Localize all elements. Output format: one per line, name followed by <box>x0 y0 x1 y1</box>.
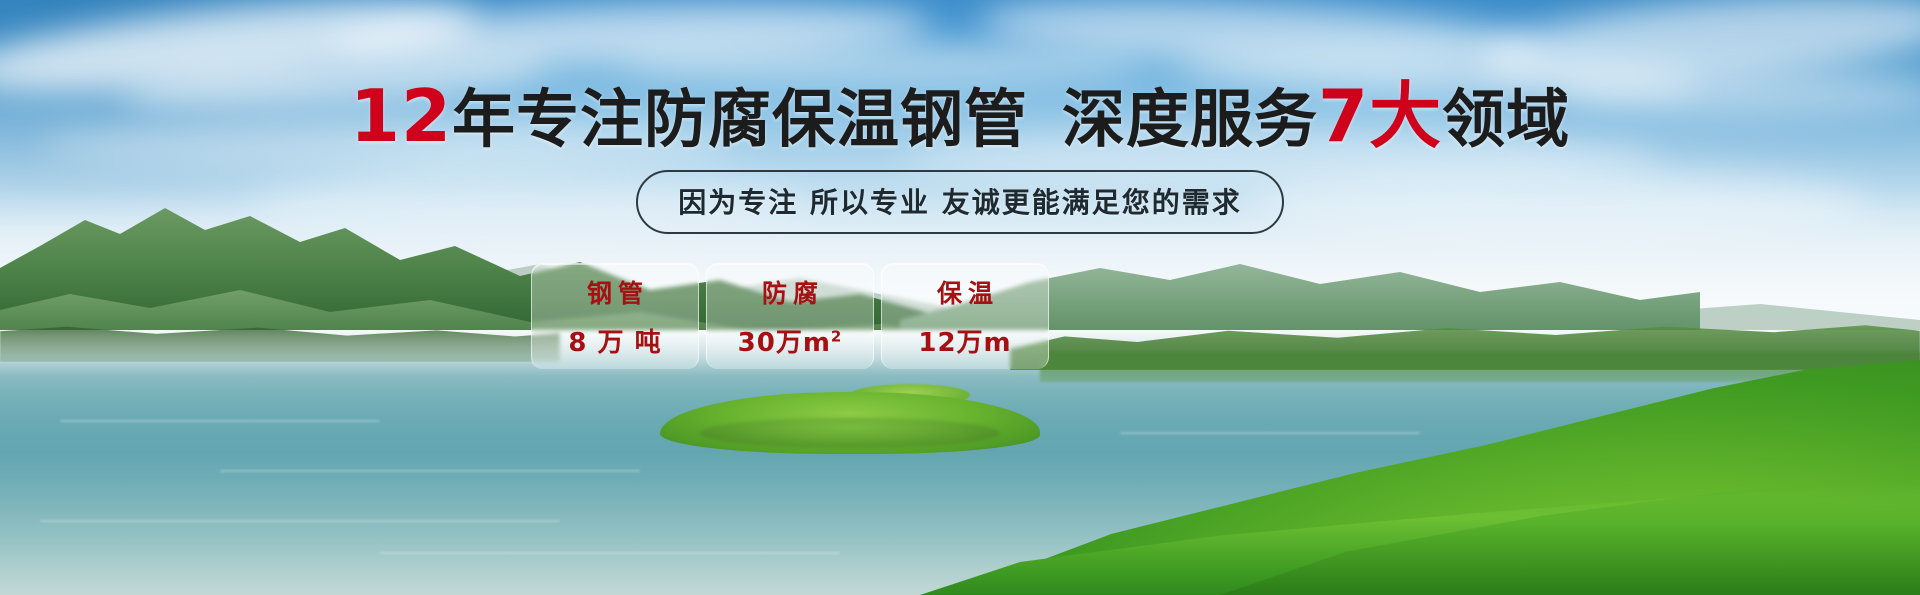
stat-card-title: 保温 <box>931 274 999 310</box>
stat-card-value: 30万m2 <box>738 322 843 359</box>
grass-island-shadow <box>700 418 1000 448</box>
cloud-icon <box>620 44 1140 84</box>
water-ripple <box>1120 432 1420 434</box>
water-ripple <box>60 420 380 422</box>
stat-card-insulation[interactable]: 保温 12万m <box>881 263 1049 369</box>
stat-card-value: 8 万 吨 <box>568 322 661 359</box>
stat-value-superscript: 2 <box>831 327 842 345</box>
headline-part-two: 深度服务 <box>1062 83 1318 156</box>
headline-part-one: 年专注防腐保温钢管 <box>452 83 1028 156</box>
subtitle-pill: 因为专注 所以专业 友诚更能满足您的需求 <box>636 170 1284 234</box>
stat-card-title: 钢管 <box>581 274 649 310</box>
water-ripple <box>40 520 560 522</box>
water-ripple <box>220 470 640 472</box>
headline-part-three: 领域 <box>1442 83 1570 156</box>
stat-card-group: 钢管 8 万 吨 防腐 30万m2 保温 12万m <box>531 263 1049 369</box>
stat-value-text: 30万m <box>738 328 831 358</box>
headline-highlight: 7大 <box>1318 74 1442 158</box>
subtitle-container: 因为专注 所以专业 友诚更能满足您的需求 <box>0 170 1920 234</box>
stat-value-text: 8 万 吨 <box>568 328 661 358</box>
hero-banner: 12年专注防腐保温钢管深度服务7大领域 因为专注 所以专业 友诚更能满足您的需求… <box>0 0 1920 595</box>
stat-card-anticorrosion[interactable]: 防腐 30万m2 <box>706 263 874 369</box>
headline-years-number: 12 <box>350 74 452 158</box>
stat-card-value: 12万m <box>918 322 1011 359</box>
water-ripple <box>380 552 840 554</box>
stat-card-steel-pipe[interactable]: 钢管 8 万 吨 <box>531 263 699 369</box>
stat-card-title: 防腐 <box>756 274 824 310</box>
stat-value-text: 12万m <box>918 328 1011 358</box>
headline: 12年专注防腐保温钢管深度服务7大领域 <box>0 80 1920 152</box>
